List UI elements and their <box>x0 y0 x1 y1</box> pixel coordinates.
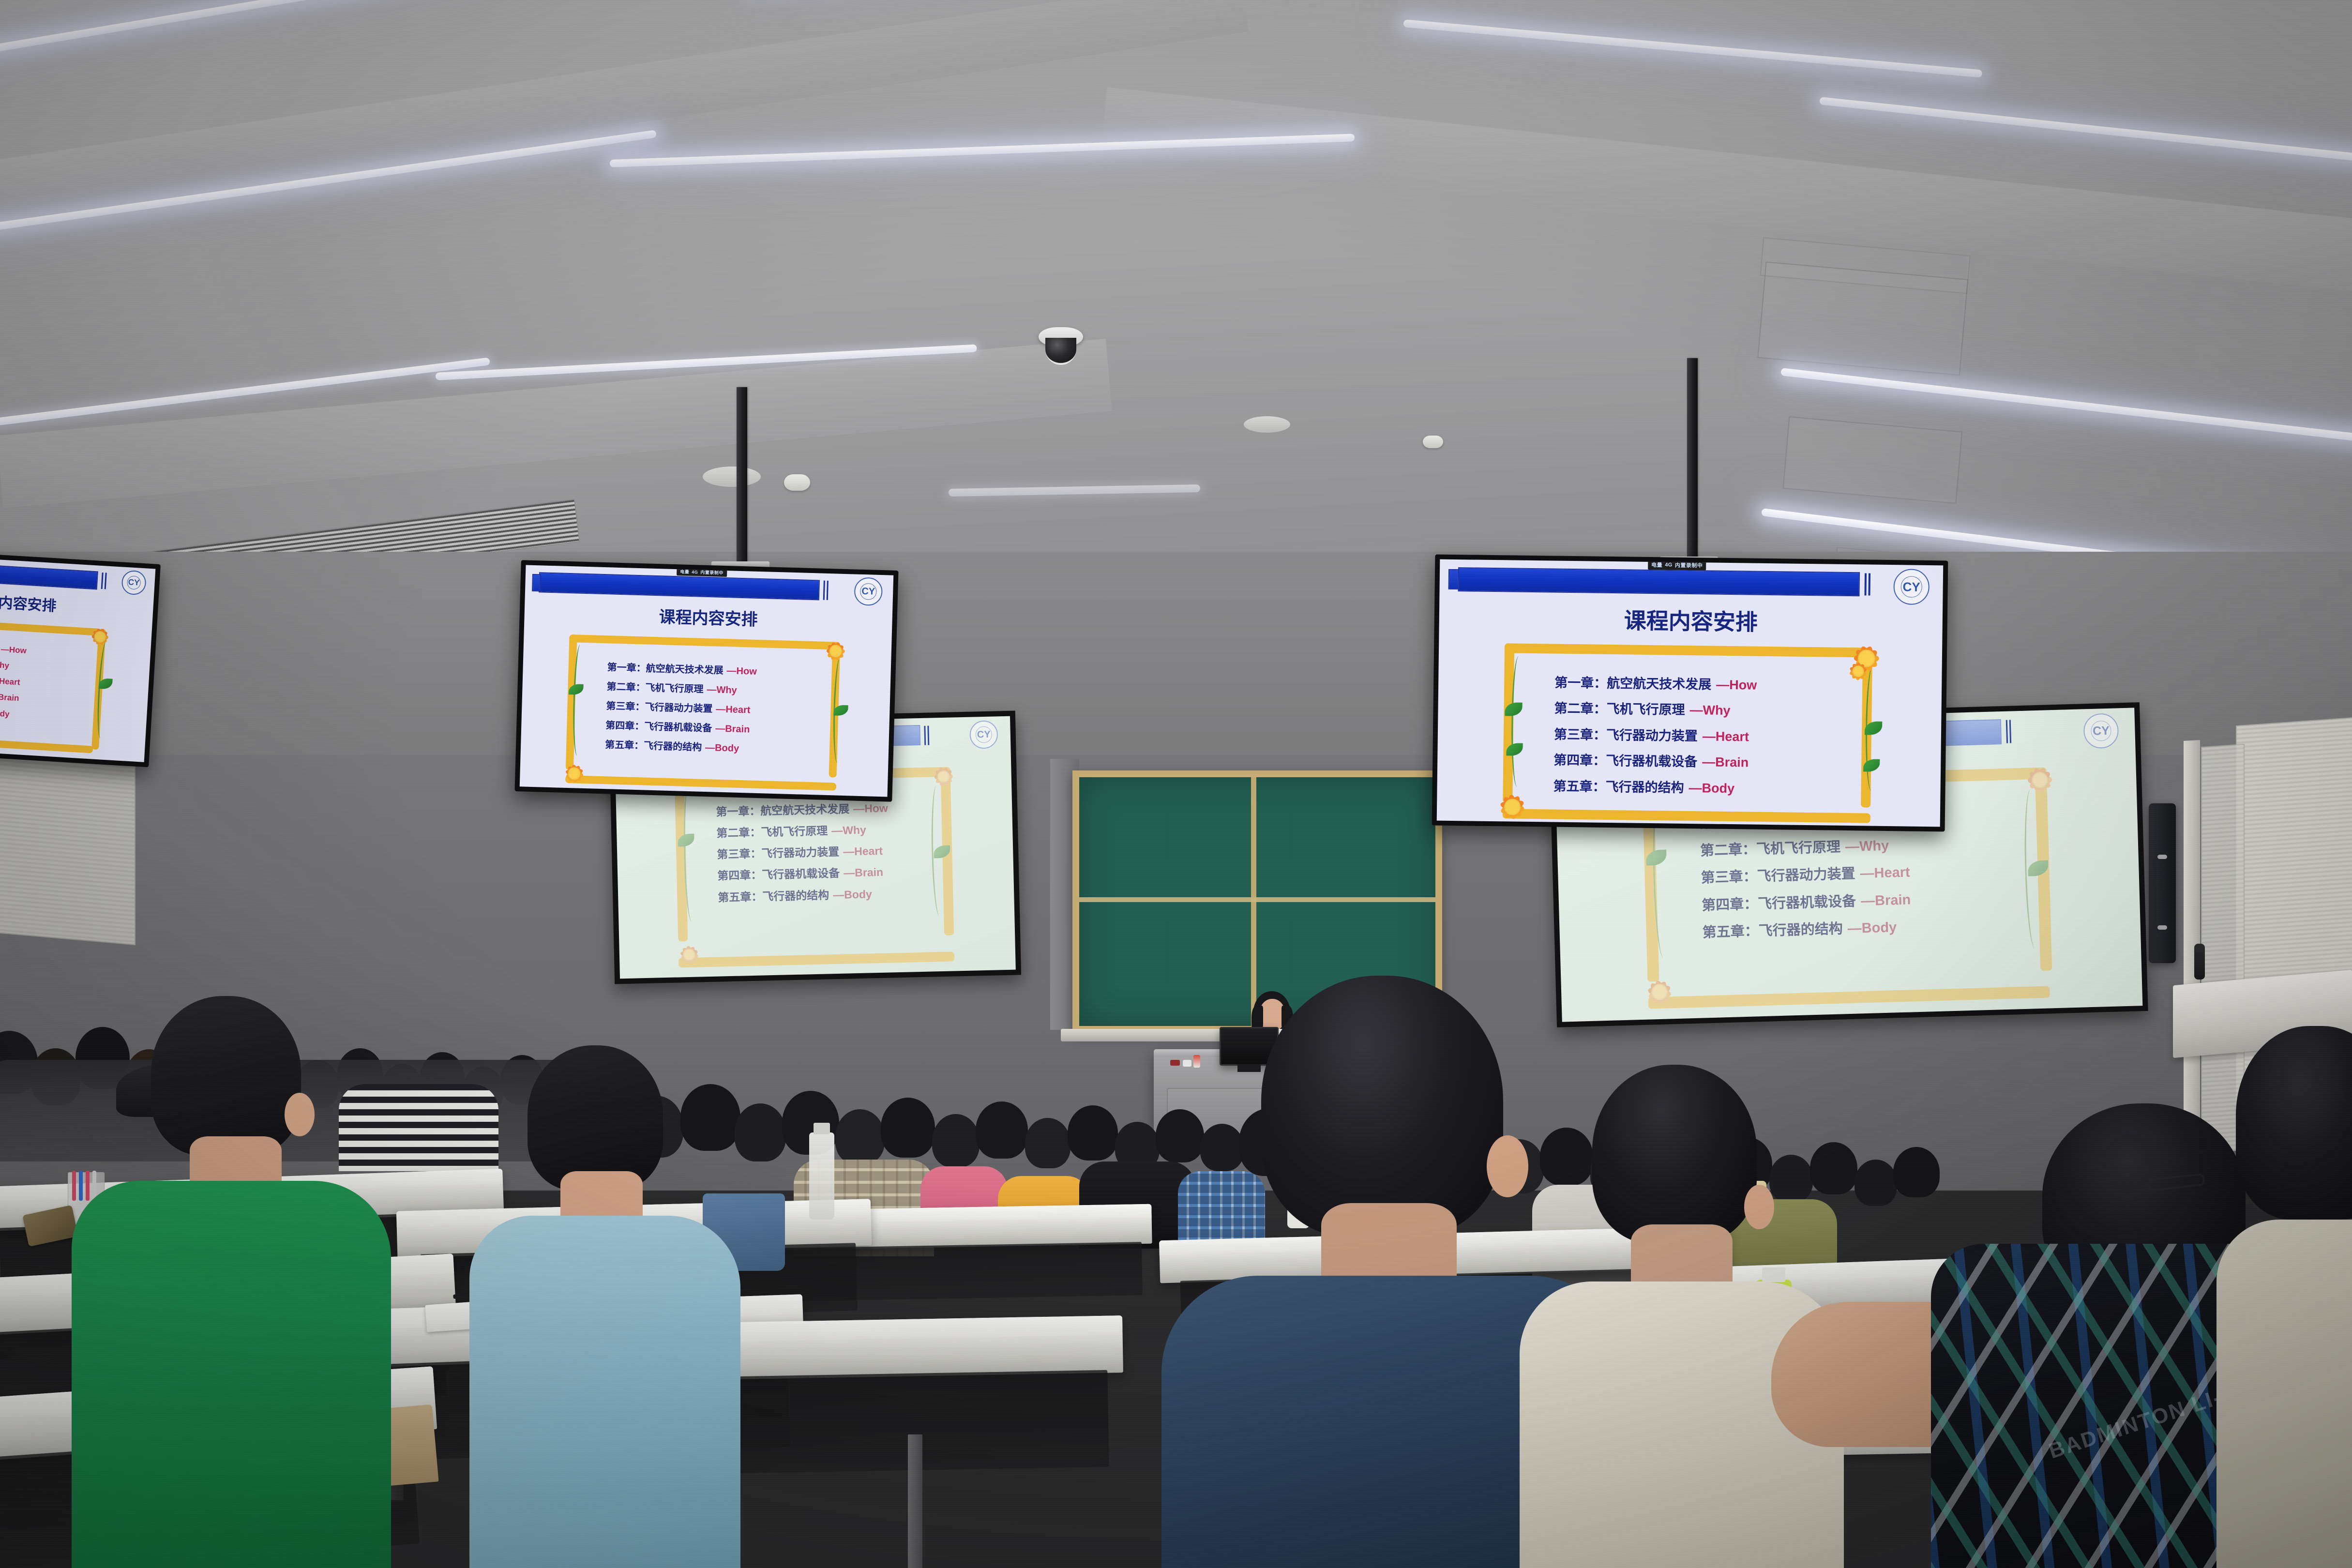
chalkboard-divider <box>1079 897 1435 902</box>
logo-mark: CY <box>861 587 875 597</box>
student-shirt <box>72 1181 391 1568</box>
slide-header-ticks <box>924 726 929 745</box>
slide-header-stub <box>1448 569 1460 589</box>
student-hair <box>528 1045 663 1191</box>
signal-label: 电量 <box>1651 561 1662 569</box>
frame-bar-bottom <box>0 734 93 754</box>
ceiling-access-panel <box>1782 416 1962 504</box>
slide-header-bar <box>1458 567 1860 596</box>
flower-decoration <box>669 935 709 975</box>
toc-item: 第二章： 飞机飞行原理 —Why <box>1554 696 1757 724</box>
television-right: CY 电量 4G 内置录制中 课程内容安排 <box>1432 555 1948 832</box>
university-logo: CY <box>969 720 998 749</box>
flower-decoration <box>1486 781 1538 827</box>
flower-decoration <box>923 756 965 798</box>
frame-bar-bottom <box>1503 809 1870 823</box>
student-foreground-right-edge <box>2226 1026 2352 1568</box>
network-label: 4G <box>1665 562 1673 568</box>
flower-decoration <box>815 631 856 671</box>
ceiling-speaker-icon <box>1244 416 1290 433</box>
toc-item: 第三章： 飞行器动力装置 —Heart <box>1554 722 1757 750</box>
student-shirt <box>2216 1220 2352 1568</box>
television-mount-pole <box>737 387 747 566</box>
security-camera-icon <box>1039 327 1083 372</box>
smoke-detector-icon <box>784 474 810 491</box>
frame-bar-bottom <box>1648 986 2050 1009</box>
toc-item: 第五章： 飞行器的结构 —Body <box>605 735 755 759</box>
logo-mark: CY <box>128 578 140 587</box>
university-logo: CY <box>2083 713 2119 749</box>
recording-label: 内置录制中 <box>1675 561 1703 570</box>
television-left-edge: CY 课程内容安排 <box>0 547 161 768</box>
toc-item: 第五章： 飞行器的结构 —Body <box>718 883 890 908</box>
university-logo: CY <box>854 577 883 606</box>
slide-header-bar <box>0 558 98 589</box>
student-hair <box>1261 976 1503 1237</box>
toc-item: 第一章： 航空航天技术发展 —How <box>0 635 27 659</box>
slide-left-edge-tv: CY 课程内容安排 <box>0 552 155 762</box>
frame-bar-bottom <box>565 775 836 791</box>
flower-decoration <box>81 618 119 656</box>
signal-label: 电量 <box>680 568 689 575</box>
flower-decoration <box>1839 652 1877 691</box>
smoke-detector-icon <box>1423 436 1443 448</box>
slide-header-bar <box>539 572 820 600</box>
ceiling-speaker-icon <box>703 467 761 487</box>
frame-bar-bottom <box>678 952 954 968</box>
slide-frame: 第一章： 航空航天技术发展 —How 第二章： 飞机飞行原理 —Why 第三章：… <box>1471 639 1909 827</box>
toc-item: 第四章： 飞行器机载设备 —Brain <box>1553 748 1756 776</box>
student-hair <box>151 996 301 1156</box>
slide-toc: 第一章： 航空航天技术发展 —How 第二章： 飞机飞行原理 —Why 第三章：… <box>1553 670 1757 802</box>
slide-toc: 第一章： 航空航天技术发展 —How 第二章： 飞机飞行原理 —Why 第三章：… <box>716 798 890 908</box>
flower-decoration <box>2013 753 2067 807</box>
recording-status-badge: 电量 4G 内置录制中 <box>1648 560 1706 570</box>
slide-header-ticks <box>101 573 107 589</box>
student-ear <box>1744 1185 1774 1229</box>
student-foreground-green <box>72 996 410 1568</box>
water-bottle <box>809 1132 834 1220</box>
student-hair <box>1592 1065 1757 1244</box>
toc-item: 第五章： 飞行器的结构 —Body <box>1702 913 1920 947</box>
slide-frame: 第一章： 航空航天技术发展 —How 第二章： 飞机飞行原理 —Why 第三章：… <box>0 609 136 761</box>
student-hair <box>2236 1026 2352 1220</box>
slide-header-ticks <box>1864 573 1870 595</box>
wall-speaker <box>2149 803 2176 963</box>
desk-leg <box>908 1434 922 1568</box>
television-mount-pole <box>1687 358 1698 561</box>
recording-label: 内置录制中 <box>700 569 724 576</box>
slide-right-tv: CY 电量 4G 内置录制中 课程内容安排 <box>1437 559 1944 827</box>
frame-bar-top <box>1505 643 1872 657</box>
frame-bar-top <box>569 634 840 650</box>
student-ear <box>285 1093 315 1136</box>
recording-status-badge: 电量 4G 内置录制中 <box>677 567 727 577</box>
toc-item: 第一章： 航空航天技术发展 —How <box>1554 670 1757 699</box>
university-logo: CY <box>1893 569 1930 605</box>
university-logo: CY <box>121 570 147 596</box>
slide-header-ticks <box>2006 720 2011 743</box>
microphone-stub <box>2194 944 2205 980</box>
slide-center-tv: CY 电量 4G 内置录制中 课程内容安排 <box>520 565 893 797</box>
lecture-hall-scene: CY <box>0 0 2352 1568</box>
slide-frame: 第一章： 航空航天技术发展 —How 第二章： 飞机飞行原理 —Why 第三章：… <box>544 629 868 796</box>
slide-header-ticks <box>823 581 829 600</box>
network-label: 4G <box>692 570 698 574</box>
logo-mark: CY <box>977 730 991 740</box>
logo-mark: CY <box>1902 580 1920 593</box>
toc-item: 第五章： 飞行器的结构 —Body <box>1553 773 1756 802</box>
slide-toc: 第一章： 航空航天技术发展 —How 第二章： 飞机飞行原理 —Why 第三章：… <box>0 635 27 723</box>
student-shirt <box>469 1216 740 1568</box>
student-foreground-lightblue <box>465 1045 755 1568</box>
logo-mark: CY <box>2093 724 2110 737</box>
slide-header-stub <box>532 574 541 591</box>
television-center: CY 电量 4G 内置录制中 课程内容安排 <box>514 560 898 802</box>
slide-toc: 第一章： 航空航天技术发展 —How 第二章： 飞机飞行原理 —Why 第三章：… <box>605 658 757 759</box>
flower-decoration <box>554 754 594 793</box>
